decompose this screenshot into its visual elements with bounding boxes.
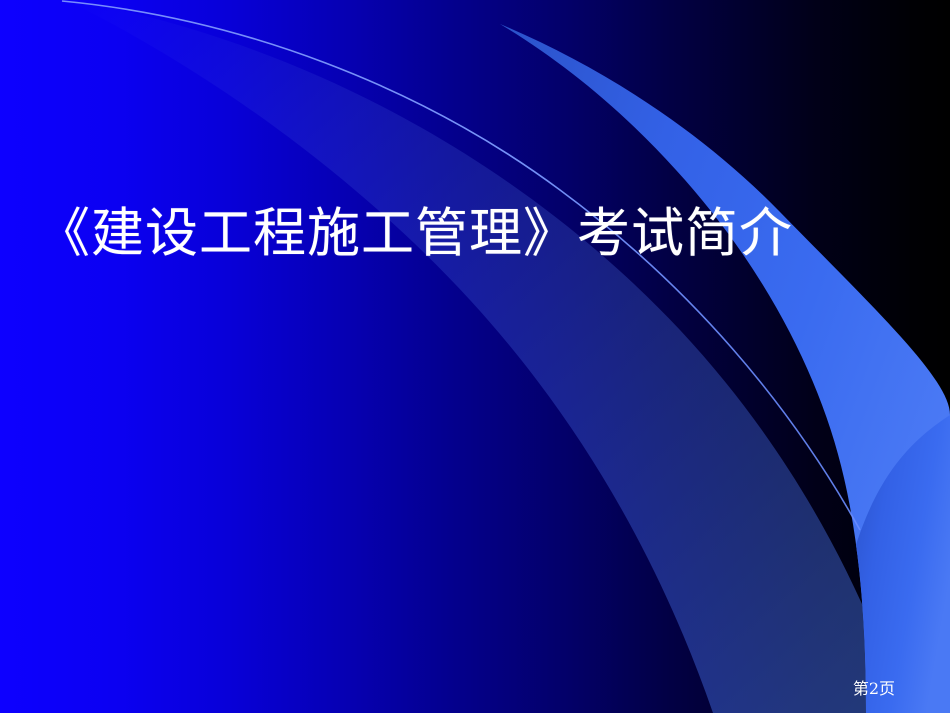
slide-title: 《建设工程施工管理》考试简介: [0, 196, 950, 272]
slide-background-gradient: [0, 0, 950, 713]
slide-title-text: 《建设工程施工管理》考试简介: [37, 196, 793, 272]
slide-page-number: 第2页: [853, 679, 895, 699]
presentation-slide: 《建设工程施工管理》考试简介 第2页: [0, 0, 950, 713]
